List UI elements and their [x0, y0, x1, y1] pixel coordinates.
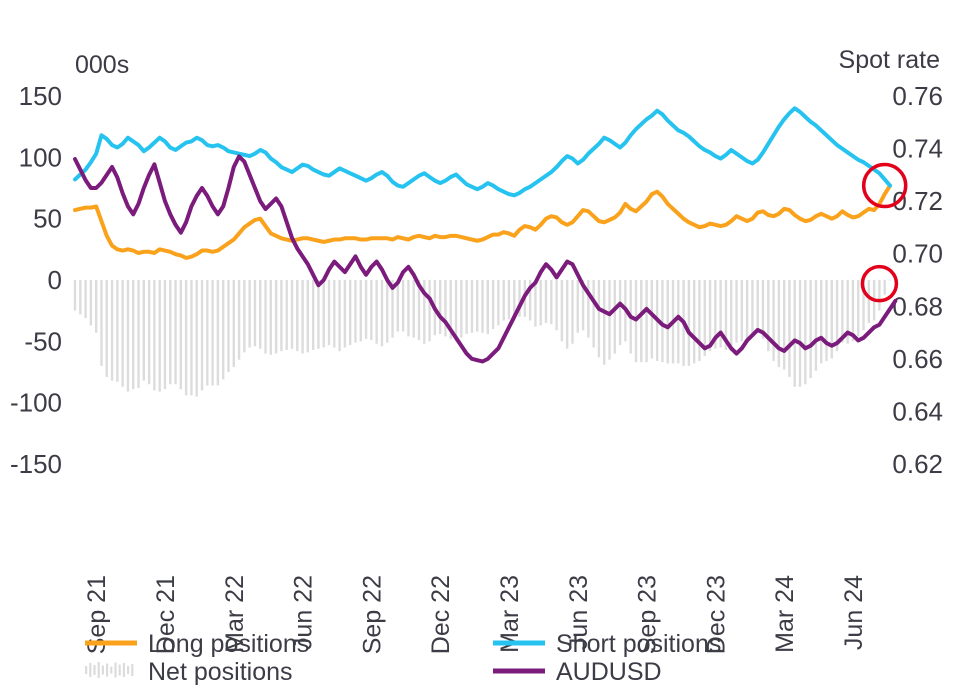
net-position-bar	[148, 280, 150, 384]
net-position-bar	[804, 280, 806, 384]
left-tick-label: -150	[10, 449, 62, 479]
legend-swatch-bars	[119, 665, 121, 676]
net-position-bar	[100, 280, 102, 366]
net-position-bar	[375, 280, 377, 344]
net-position-bar	[465, 280, 467, 334]
net-position-bar	[360, 280, 362, 341]
net-position-bar	[555, 280, 557, 330]
legend-label: AUDUSD	[556, 658, 662, 686]
net-position-bar	[106, 280, 108, 377]
net-position-bar	[386, 280, 388, 343]
net-position-bar	[317, 280, 319, 349]
chart-container: 000s Spot rate 150100500-50-100-150 0.76…	[0, 0, 954, 697]
right-tick-label: 0.62	[892, 449, 943, 479]
net-position-bar	[344, 280, 346, 347]
net-position-bar	[397, 280, 399, 332]
legend-label: Short positions	[556, 630, 721, 658]
net-position-bar	[158, 280, 160, 392]
net-position-bar	[201, 280, 203, 390]
net-position-bar	[211, 280, 213, 385]
legend-swatch-bars	[98, 662, 100, 678]
net-position-bar	[370, 280, 372, 340]
net-position-bar	[566, 280, 568, 349]
net-position-bar	[428, 280, 430, 341]
net-position-bar	[481, 280, 483, 333]
net-position-bar	[402, 280, 404, 332]
audusd-positioning-chart: 000s Spot rate 150100500-50-100-150 0.76…	[0, 0, 954, 697]
net-position-bar	[323, 280, 325, 347]
net-position-bar	[217, 280, 219, 385]
net-position-bar	[169, 280, 171, 384]
net-position-bar	[275, 280, 277, 354]
legend-swatch-bars	[127, 666, 129, 674]
net-position-bar	[259, 280, 261, 349]
net-position-bar	[471, 280, 473, 333]
net-position-bar	[190, 280, 192, 395]
net-position-bar	[603, 280, 605, 365]
net-position-bar	[799, 280, 801, 387]
net-position-bar	[534, 280, 536, 327]
net-position-bar	[248, 280, 250, 347]
right-tick-label: 0.74	[892, 134, 943, 164]
net-position-bar	[185, 280, 187, 395]
net-position-bar	[180, 280, 182, 389]
net-position-bar	[238, 280, 240, 360]
net-position-bar	[476, 280, 478, 332]
left-tick-label: -50	[24, 326, 62, 356]
net-position-bar	[349, 280, 351, 345]
x-tick-label: Mar 24	[771, 575, 799, 653]
legend-label: Long positions	[148, 630, 309, 658]
net-position-bar	[365, 280, 367, 339]
net-position-bar	[757, 280, 759, 333]
net-position-bar	[174, 280, 176, 384]
left-tick-label: 0	[48, 265, 62, 295]
net-position-bar	[312, 280, 314, 350]
net-position-bar	[460, 280, 462, 338]
net-position-bar	[540, 280, 542, 325]
net-position-bar	[545, 280, 547, 323]
net-position-bar	[233, 280, 235, 367]
net-position-bar	[667, 280, 669, 363]
net-position-bar	[270, 280, 272, 355]
right-tick-label: 0.70	[892, 239, 943, 269]
net-position-bar	[164, 280, 166, 389]
legend-swatch-bars	[114, 663, 116, 678]
net-position-bar	[84, 280, 86, 318]
net-position-bar	[487, 280, 489, 334]
net-position-bar	[857, 280, 859, 336]
legend-swatch-bars	[106, 664, 108, 677]
net-position-bar	[614, 280, 616, 354]
net-position-bar	[90, 280, 92, 325]
x-tick-label: Dec 22	[427, 575, 455, 654]
net-position-bar	[254, 280, 256, 346]
net-position-bar	[196, 280, 198, 397]
net-position-bar	[116, 280, 118, 382]
net-position-bar	[550, 280, 552, 324]
net-position-bar	[413, 280, 415, 338]
net-position-bar	[127, 280, 129, 392]
net-position-bar	[878, 280, 880, 311]
net-position-bar	[741, 280, 743, 341]
net-position-bar	[227, 280, 229, 372]
net-position-bar	[492, 280, 494, 329]
left-tick-label: -100	[10, 388, 62, 418]
net-position-bar	[74, 280, 76, 311]
net-position-bar	[222, 280, 224, 379]
net-position-bar	[592, 280, 594, 347]
net-position-bar	[651, 280, 653, 359]
net-position-bar	[571, 280, 573, 344]
net-position-bar	[328, 280, 330, 345]
net-position-bar	[307, 280, 309, 352]
net-position-bar	[577, 280, 579, 333]
net-position-bar	[815, 280, 817, 371]
net-position-bar	[825, 280, 827, 361]
x-tick-label: Sep 22	[358, 575, 386, 654]
legend-swatch-bars	[85, 666, 87, 674]
net-position-bar	[868, 280, 870, 323]
net-position-bar	[841, 280, 843, 343]
net-position-bar	[121, 280, 123, 387]
net-position-bar	[820, 280, 822, 363]
right-tick-label: 0.64	[892, 396, 943, 426]
net-position-bar	[111, 280, 113, 381]
legend-swatch-bars	[89, 663, 91, 677]
net-position-bar	[772, 280, 774, 361]
legend-swatch-bars	[110, 667, 112, 674]
right-axis-unit-label: Spot rate	[839, 46, 940, 74]
net-position-bar	[852, 280, 854, 341]
net-position-bar	[619, 280, 621, 345]
net-position-bar	[285, 280, 287, 350]
net-position-bar	[301, 280, 303, 354]
net-position-bar	[809, 280, 811, 378]
right-tick-label: 0.76	[892, 81, 943, 111]
net-position-bar	[889, 280, 891, 281]
net-position-bar	[608, 280, 610, 360]
net-position-bar	[206, 280, 208, 385]
net-position-bar	[143, 280, 145, 381]
net-position-bar	[751, 280, 753, 335]
net-position-bar	[497, 280, 499, 325]
right-tick-label: 0.68	[892, 291, 943, 321]
x-tick-label: Jun 24	[840, 575, 868, 650]
legend-swatch-bars	[131, 664, 133, 676]
left-axis-unit-label: 000s	[75, 51, 129, 79]
left-tick-label: 150	[19, 81, 62, 111]
net-position-bar	[439, 280, 441, 334]
net-position-bar	[455, 280, 457, 341]
net-position-bar	[381, 280, 383, 346]
legend-label: Net positions	[148, 658, 293, 686]
legend-swatch-bars	[102, 666, 104, 675]
net-position-bar	[698, 280, 700, 361]
net-position-bar	[95, 280, 97, 333]
net-position-bar	[645, 280, 647, 362]
net-position-bar	[333, 280, 335, 347]
net-position-bar	[561, 280, 563, 341]
right-tick-label: 0.66	[892, 344, 943, 374]
net-position-bar	[132, 280, 134, 389]
net-position-bar	[407, 280, 409, 336]
legend-swatch-bars	[93, 665, 95, 675]
net-position-bar	[137, 280, 139, 388]
net-position-bar	[153, 280, 155, 390]
net-position-bar	[79, 280, 81, 314]
net-position-bar	[502, 280, 504, 320]
net-position-bar	[677, 280, 679, 363]
net-position-bar	[794, 280, 796, 387]
net-position-bar	[884, 280, 886, 295]
net-position-bar	[704, 280, 706, 356]
net-position-bar	[338, 280, 340, 351]
left-tick-label: 50	[33, 204, 62, 234]
net-position-bar	[709, 280, 711, 351]
net-position-bar	[778, 280, 780, 367]
net-position-bar	[296, 280, 298, 351]
net-position-bar	[280, 280, 282, 351]
net-position-bar	[788, 280, 790, 377]
legend-swatch-bars	[123, 663, 125, 677]
net-position-bar	[264, 280, 266, 354]
net-position-bar	[354, 280, 356, 343]
net-position-bar	[735, 280, 737, 343]
net-position-bar	[783, 280, 785, 370]
net-position-bar	[640, 280, 642, 362]
net-position-bar	[730, 280, 732, 351]
net-position-bar	[444, 280, 446, 336]
net-position-bar	[598, 280, 600, 357]
net-position-bar	[508, 280, 510, 319]
net-position-bar	[291, 280, 293, 349]
left-tick-label: 100	[19, 142, 62, 172]
net-position-bar	[693, 280, 695, 363]
net-position-bar	[688, 280, 690, 366]
net-position-bar	[746, 280, 748, 340]
net-position-bar	[243, 280, 245, 352]
